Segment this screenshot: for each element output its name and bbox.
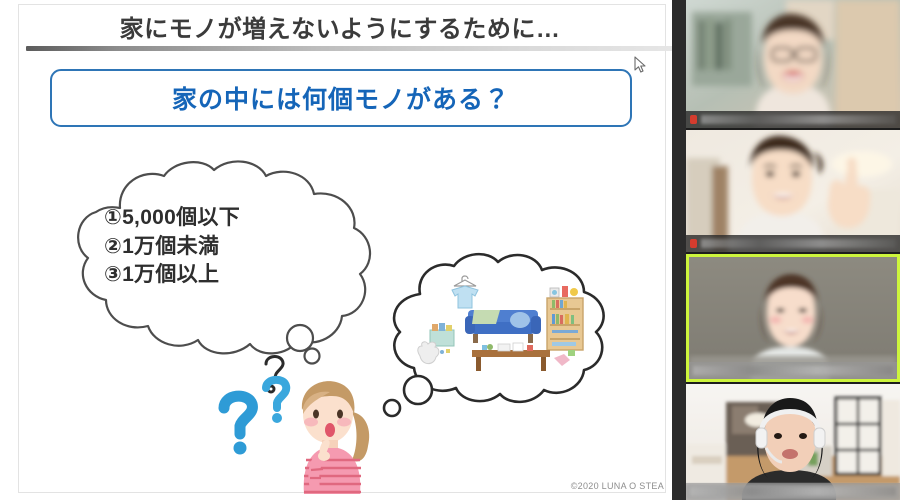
participant-video-strip[interactable] [686,0,900,500]
room-thought-bubble [372,250,612,420]
copyright-notice: ©2020 LUNA O STEA [571,481,664,491]
participant-2-name-bar [686,235,900,252]
participant-3-name-redacted [693,366,893,375]
choice-item-2: ②1万個未満 [104,233,364,262]
thought-cloud-shape-right [372,250,612,420]
question-text: 家の中には何個モノがある？ [172,80,510,116]
mic-muted-icon [690,239,697,248]
question-mark-large-icon [224,396,252,454]
screen-share-window: 家にモノが増えないようにするために… 家の中には何個モノがある？ ①5,000個… [0,0,900,500]
video-tile-participant-4[interactable] [686,384,900,500]
choice-item-3: ③1万個以上 [104,261,364,290]
mic-muted-icon [690,115,697,124]
participant-3-video [689,257,897,379]
participant-3-name-bar [689,362,897,379]
choice-list: ①5,000個以下 ②1万個未満 ③1万個以上 [104,204,364,290]
video-tile-participant-3[interactable] [686,254,900,382]
participant-1-video [686,0,900,128]
participant-2-name-redacted [701,239,896,248]
panel-divider [672,0,686,500]
title-divider [26,46,674,51]
page-title: 家にモノが増えないようにするために… [40,8,640,44]
thinking-girl-illustration [280,368,380,500]
participant-4-name-redacted [690,487,896,496]
participant-4-name-bar [686,483,900,500]
video-tile-participant-1[interactable] [686,0,900,128]
video-tile-participant-2[interactable] [686,130,900,252]
choices-thought-bubble: ①5,000個以下 ②1万個未満 ③1万個以上 [62,160,378,365]
participant-2-video [686,130,900,252]
participant-1-name-redacted [701,115,896,124]
shared-slide-region[interactable]: 家にモノが増えないようにするために… 家の中には何個モノがある？ ①5,000個… [0,0,684,500]
participant-1-name-bar [686,111,900,128]
choice-item-1: ①5,000個以下 [104,204,364,233]
question-callout-box: 家の中には何個モノがある？ [50,69,632,127]
